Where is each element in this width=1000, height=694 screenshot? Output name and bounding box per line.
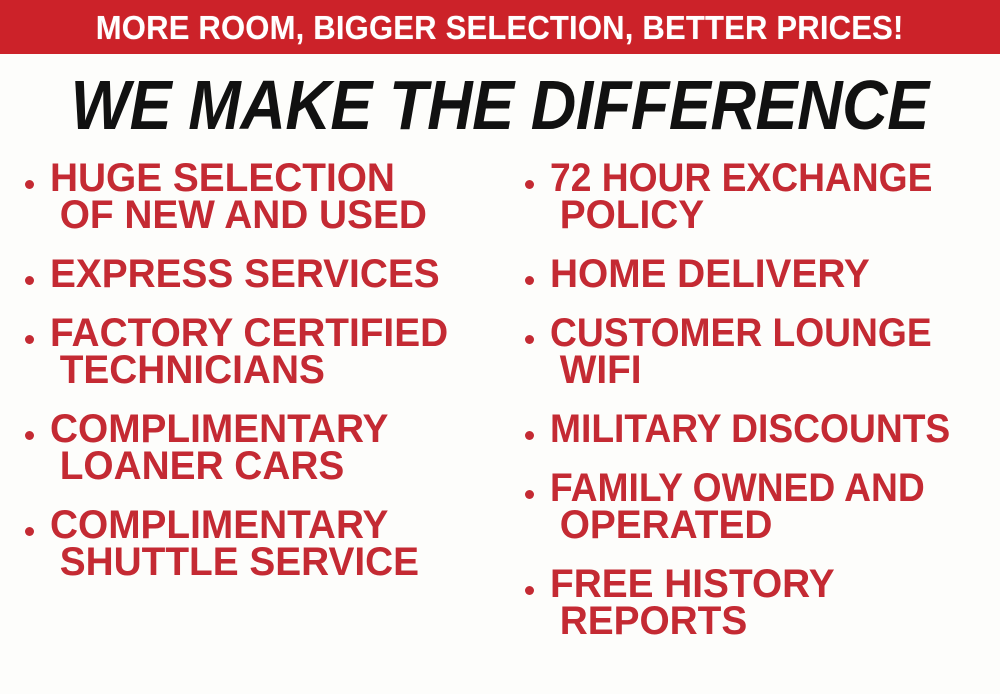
bullet-dot-icon: [525, 180, 534, 189]
benefit-list-item: 72 HOUR EXCHANGEPOLICY: [518, 160, 1000, 234]
benefit-list-item: HOME DELIVERY: [518, 256, 1000, 293]
benefit-text-line: OPERATED: [550, 507, 987, 544]
benefit-text-line: 72 HOUR EXCHANGE: [550, 160, 969, 197]
benefit-text: MILITARY DISCOUNTS: [550, 411, 1000, 448]
bullet-dot-icon: [25, 431, 34, 440]
benefit-text: CUSTOMER LOUNGEWIFI: [550, 315, 1000, 389]
bullet-dot-icon: [525, 335, 534, 344]
page-title-text: WE MAKE THE DIFFERENCE: [71, 68, 929, 142]
benefits-column-left: HUGE SELECTIONOF NEW AND USEDEXPRESS SER…: [18, 160, 500, 603]
benefit-list-item: FACTORY CERTIFIEDTECHNICIANS: [18, 315, 500, 389]
benefit-text-line: POLICY: [550, 197, 987, 234]
dealership-benefits-poster: MORE ROOM, BIGGER SELECTION, BETTER PRIC…: [0, 0, 1000, 694]
benefit-text-line: MILITARY DISCOUNTS: [550, 411, 969, 448]
bullet-dot-icon: [25, 276, 34, 285]
benefit-text-line: FREE HISTORY: [550, 566, 987, 603]
top-banner: MORE ROOM, BIGGER SELECTION, BETTER PRIC…: [0, 0, 1000, 54]
benefit-list-item: CUSTOMER LOUNGEWIFI: [518, 315, 1000, 389]
benefit-text-line: HOME DELIVERY: [550, 256, 987, 293]
bullet-dot-icon: [525, 276, 534, 285]
benefit-list-item: HUGE SELECTIONOF NEW AND USED: [18, 160, 500, 234]
benefit-text-line: OF NEW AND USED: [50, 197, 487, 234]
benefit-text: HUGE SELECTIONOF NEW AND USED: [50, 160, 500, 234]
benefit-list-item: FAMILY OWNED ANDOPERATED: [518, 470, 1000, 544]
benefits-columns: HUGE SELECTIONOF NEW AND USEDEXPRESS SER…: [0, 160, 1000, 694]
benefit-text: EXPRESS SERVICES: [50, 256, 500, 293]
bullet-dot-icon: [525, 431, 534, 440]
benefit-text-line: COMPLIMENTARY: [50, 507, 487, 544]
bullet-dot-icon: [25, 335, 34, 344]
bullet-dot-icon: [525, 586, 534, 595]
benefit-text-line: FAMILY OWNED AND: [550, 470, 969, 507]
benefit-text: COMPLIMENTARYSHUTTLE SERVICE: [50, 507, 500, 581]
banner-headline-text: MORE ROOM, BIGGER SELECTION, BETTER PRIC…: [96, 11, 904, 44]
benefit-text: FAMILY OWNED ANDOPERATED: [550, 470, 1000, 544]
benefit-text: FACTORY CERTIFIEDTECHNICIANS: [50, 315, 500, 389]
benefit-text-line: COMPLIMENTARY: [50, 411, 487, 448]
benefit-text: COMPLIMENTARYLOANER CARS: [50, 411, 500, 485]
benefit-text-line: FACTORY CERTIFIED: [50, 315, 487, 352]
benefit-text: HOME DELIVERY: [550, 256, 1000, 293]
benefit-text-line: EXPRESS SERVICES: [50, 256, 487, 293]
benefit-text: 72 HOUR EXCHANGEPOLICY: [550, 160, 1000, 234]
benefit-list-item: COMPLIMENTARYLOANER CARS: [18, 411, 500, 485]
benefit-text: FREE HISTORYREPORTS: [550, 566, 1000, 640]
benefit-list-item: FREE HISTORYREPORTS: [518, 566, 1000, 640]
bullet-dot-icon: [25, 180, 34, 189]
benefit-text-line: REPORTS: [550, 603, 987, 640]
benefit-text-line: WIFI: [550, 352, 987, 389]
benefit-text-line: SHUTTLE SERVICE: [50, 544, 487, 581]
benefit-list-item: MILITARY DISCOUNTS: [518, 411, 1000, 448]
page-title: WE MAKE THE DIFFERENCE: [0, 68, 1000, 142]
benefit-text-line: CUSTOMER LOUNGE: [550, 315, 969, 352]
benefit-text-line: TECHNICIANS: [50, 352, 487, 389]
benefit-text-line: LOANER CARS: [50, 448, 487, 485]
bullet-dot-icon: [25, 527, 34, 536]
benefit-list-item: COMPLIMENTARYSHUTTLE SERVICE: [18, 507, 500, 581]
benefit-list-item: EXPRESS SERVICES: [18, 256, 500, 293]
bullet-dot-icon: [525, 490, 534, 499]
benefits-column-right: 72 HOUR EXCHANGEPOLICYHOME DELIVERYCUSTO…: [518, 160, 1000, 662]
benefit-text-line: HUGE SELECTION: [50, 160, 487, 197]
